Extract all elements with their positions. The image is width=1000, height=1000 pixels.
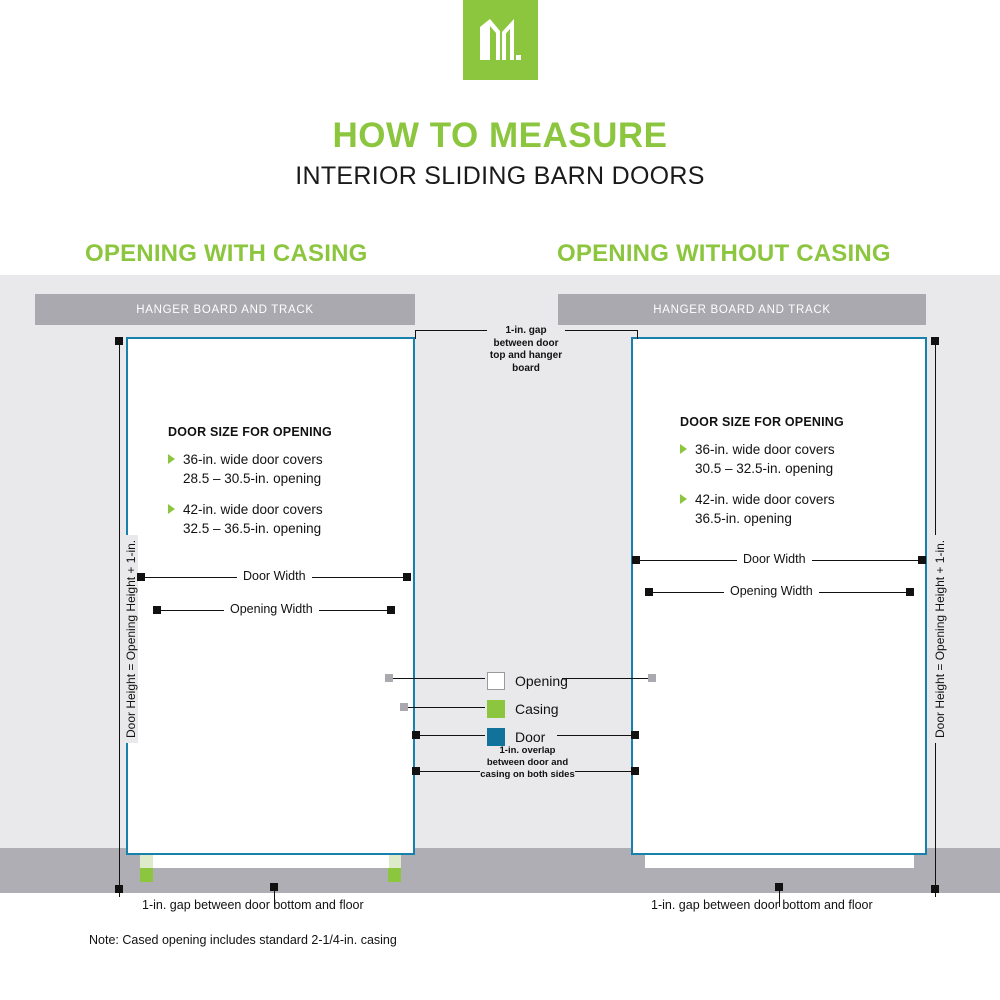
door-outline-left (126, 337, 415, 855)
bullet-arrow-icon (168, 504, 175, 514)
panel-heading-without-casing: OPENING WITHOUT CASING (557, 240, 891, 268)
spec-item: 42-in. wide door covers 32.5 – 36.5-in. … (168, 500, 332, 538)
bullet-arrow-icon (680, 444, 687, 454)
door-width-label-right: Door Width (737, 552, 812, 566)
spec-line2: 36.5-in. opening (695, 509, 835, 528)
diagram-canvas: HANGER BOARD AND TRACK HANGER BOARD AND … (0, 275, 1000, 893)
door-width-cap-right (918, 556, 926, 564)
note-floor-gap-left: 1-in. gap between door bottom and floor (142, 898, 364, 912)
legend-cap-opening-left (385, 674, 393, 682)
legend-label-casing: Casing (515, 701, 559, 717)
hanger-board-right: HANGER BOARD AND TRACK (558, 294, 926, 325)
spec-line1: 36-in. wide door covers (695, 440, 835, 459)
spec-block-right: DOOR SIZE FOR OPENING 36-in. wide door c… (680, 415, 844, 540)
legend-item-door: Door (487, 723, 568, 751)
hanger-board-label: HANGER BOARD AND TRACK (136, 304, 314, 316)
spec-line2: 32.5 – 36.5-in. opening (183, 519, 323, 538)
note-floor-gap-right: 1-in. gap between door bottom and floor (651, 898, 873, 912)
door-width-cap-right (403, 573, 411, 581)
spec-line2: 30.5 – 32.5-in. opening (695, 459, 835, 478)
spec-block-left: DOOR SIZE FOR OPENING 36-in. wide door c… (168, 425, 332, 550)
overlap-leader-right (566, 771, 635, 772)
legend-leader-opening-left (389, 678, 485, 679)
height-dim-cap-top-left (115, 337, 123, 345)
spec-title: DOOR SIZE FOR OPENING (680, 415, 844, 429)
hanger-board-left: HANGER BOARD AND TRACK (35, 294, 415, 325)
spec-line2: 28.5 – 30.5-in. opening (183, 469, 323, 488)
legend-leader-casing (404, 707, 485, 708)
hanger-board-label: HANGER BOARD AND TRACK (653, 304, 831, 316)
page-title: HOW TO MEASURE (0, 116, 1000, 156)
spec-line1: 42-in. wide door covers (695, 490, 835, 509)
door-height-label-right: Door Height = Opening Height + 1-in. (933, 535, 947, 743)
legend-cap-door-right (631, 731, 639, 739)
gap-leader-right (565, 330, 637, 331)
legend-leader-door-left (416, 735, 485, 736)
note-casing: Note: Cased opening includes standard 2-… (89, 933, 397, 947)
note-top-gap: 1-in. gap between door top and hanger bo… (487, 325, 565, 375)
masonite-m-logo-icon (478, 18, 524, 62)
page-subtitle: INTERIOR SLIDING BARN DOORS (0, 162, 1000, 191)
spec-item: 42-in. wide door covers 36.5-in. opening (680, 490, 844, 528)
opening-width-cap-left (645, 588, 653, 596)
opening-width-cap-right (906, 588, 914, 596)
door-height-label-left: Door Height = Opening Height + 1-in. (124, 535, 138, 743)
casing-foot-right (388, 868, 401, 882)
spec-line1: 36-in. wide door covers (183, 450, 323, 469)
legend-item-casing: Casing (487, 695, 568, 723)
gap-leader-left (415, 330, 487, 331)
bullet-arrow-icon (680, 494, 687, 504)
spec-title: DOOR SIZE FOR OPENING (168, 425, 332, 439)
legend-label-door: Door (515, 729, 545, 745)
height-dim-cap-bottom-left (115, 885, 123, 893)
legend-swatch-casing (487, 700, 505, 718)
door-width-cap-left (632, 556, 640, 564)
bullet-arrow-icon (168, 454, 175, 464)
spec-line1: 42-in. wide door covers (183, 500, 323, 519)
door-width-label-left: Door Width (237, 569, 312, 583)
panel-heading-with-casing: OPENING WITH CASING (85, 240, 367, 268)
height-dim-cap-top-right (931, 337, 939, 345)
overlap-leader-left (416, 771, 485, 772)
height-dim-line-left (119, 341, 120, 897)
legend-swatch-opening (487, 672, 505, 690)
overlap-cap-left (412, 767, 420, 775)
spec-item: 36-in. wide door covers 30.5 – 32.5-in. … (680, 440, 844, 478)
opening-width-cap-right (387, 606, 395, 614)
legend-item-opening: Opening (487, 667, 568, 695)
legend-label-opening: Opening (515, 673, 568, 689)
legend-leader-door-right (557, 735, 635, 736)
casing-foot-left (140, 868, 153, 882)
legend-swatch-door (487, 728, 505, 746)
floor-gap-cap-left (270, 883, 278, 891)
legend-cap-opening-right (648, 674, 656, 682)
overlap-cap-right (631, 767, 639, 775)
floor-gap-cap-right (775, 883, 783, 891)
legend-cap-door-left (412, 731, 420, 739)
legend-leader-opening-right (562, 678, 652, 679)
opening-width-label-right: Opening Width (724, 584, 819, 598)
opening-width-label-left: Opening Width (224, 602, 319, 616)
opening-width-cap-left (153, 606, 161, 614)
brand-logo (463, 0, 538, 80)
height-dim-cap-bottom-right (931, 885, 939, 893)
legend: Opening Casing Door (487, 667, 568, 751)
spec-item: 36-in. wide door covers 28.5 – 30.5-in. … (168, 450, 332, 488)
legend-cap-casing (400, 703, 408, 711)
gap-tick-right (637, 330, 638, 339)
door-width-cap-left (137, 573, 145, 581)
gap-tick-left (415, 330, 416, 339)
